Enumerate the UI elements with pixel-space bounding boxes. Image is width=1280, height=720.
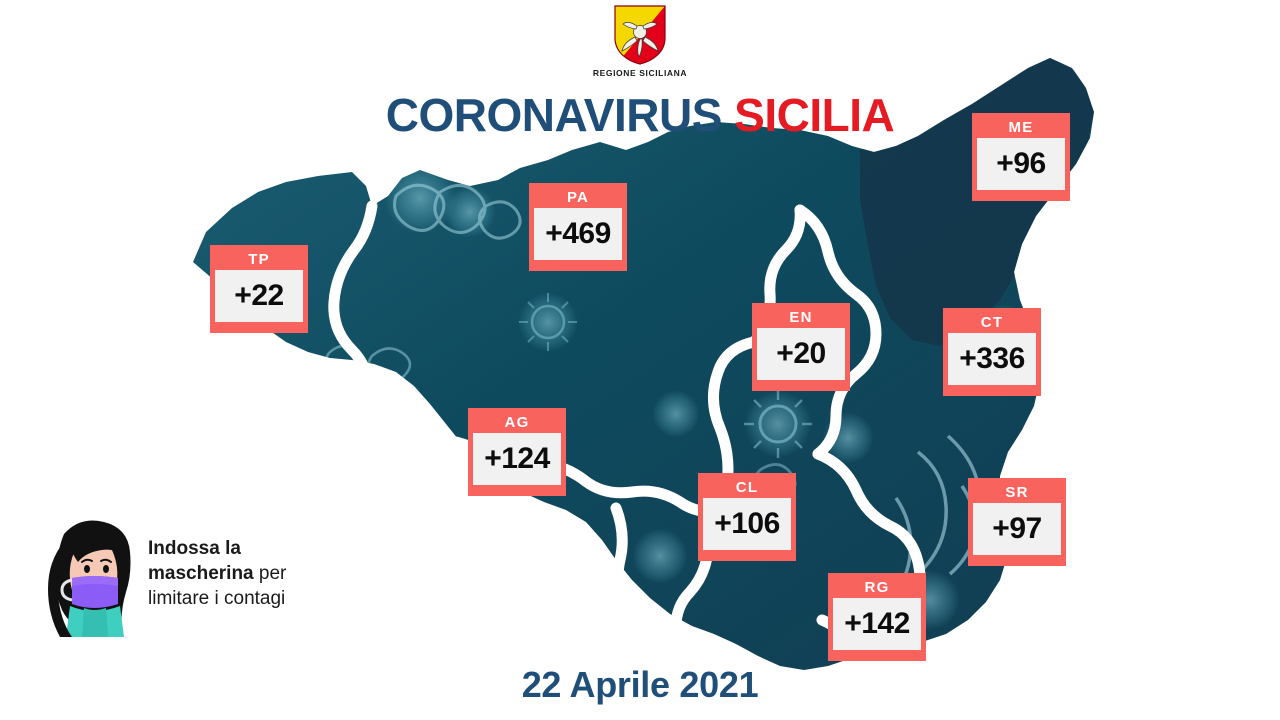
- province-value: +336: [948, 333, 1036, 385]
- province-value: +106: [703, 498, 791, 550]
- province-value: +142: [833, 598, 921, 650]
- province-box-pa[interactable]: PA +469: [529, 183, 627, 271]
- province-code: AG: [473, 413, 561, 433]
- province-code: CL: [703, 478, 791, 498]
- province-code: RG: [833, 578, 921, 598]
- province-value: +97: [973, 503, 1061, 555]
- person-wearing-mask-icon: [40, 512, 145, 637]
- region-emblem: REGIONE SICILIANA: [0, 4, 1280, 78]
- province-value: +96: [977, 138, 1065, 190]
- province-box-sr[interactable]: SR +97: [968, 478, 1066, 566]
- province-code: SR: [973, 483, 1061, 503]
- trinacria-emblem-icon: [609, 4, 671, 66]
- advice-line1: Indossa la: [148, 538, 241, 559]
- advice-line2-regular: per: [254, 563, 287, 584]
- province-box-ag[interactable]: AG +124: [468, 408, 566, 496]
- province-box-rg[interactable]: RG +142: [828, 573, 926, 661]
- province-value: +20: [757, 328, 845, 380]
- advice-line2-bold: mascherina: [148, 563, 254, 584]
- province-code: ME: [977, 118, 1065, 138]
- mask-advice-block: Indossa la mascherina per limitare i con…: [40, 512, 370, 642]
- province-box-me[interactable]: ME +96: [972, 113, 1070, 201]
- date-label: 22 Aprile 2021: [0, 664, 1280, 706]
- province-code: EN: [757, 308, 845, 328]
- province-box-cl[interactable]: CL +106: [698, 473, 796, 561]
- title-primary: CORONAVIRUS: [386, 89, 722, 141]
- emblem-caption: REGIONE SICILIANA: [593, 68, 687, 78]
- province-box-ct[interactable]: CT +336: [943, 308, 1041, 396]
- province-box-en[interactable]: EN +20: [752, 303, 850, 391]
- province-code: TP: [215, 250, 303, 270]
- mask-advice-text: Indossa la mascherina per limitare i con…: [148, 536, 373, 611]
- province-code: PA: [534, 188, 622, 208]
- province-value: +469: [534, 208, 622, 260]
- advice-line3: limitare i contagi: [148, 588, 285, 609]
- infographic-root: REGIONE SICILIANA CORONAVIRUS SICILIA TP…: [0, 0, 1280, 720]
- province-code: CT: [948, 313, 1036, 333]
- province-value: +124: [473, 433, 561, 485]
- province-box-tp[interactable]: TP +22: [210, 245, 308, 333]
- title-secondary: SICILIA: [734, 89, 894, 141]
- page-title: CORONAVIRUS SICILIA: [0, 92, 1280, 138]
- province-value: +22: [215, 270, 303, 322]
